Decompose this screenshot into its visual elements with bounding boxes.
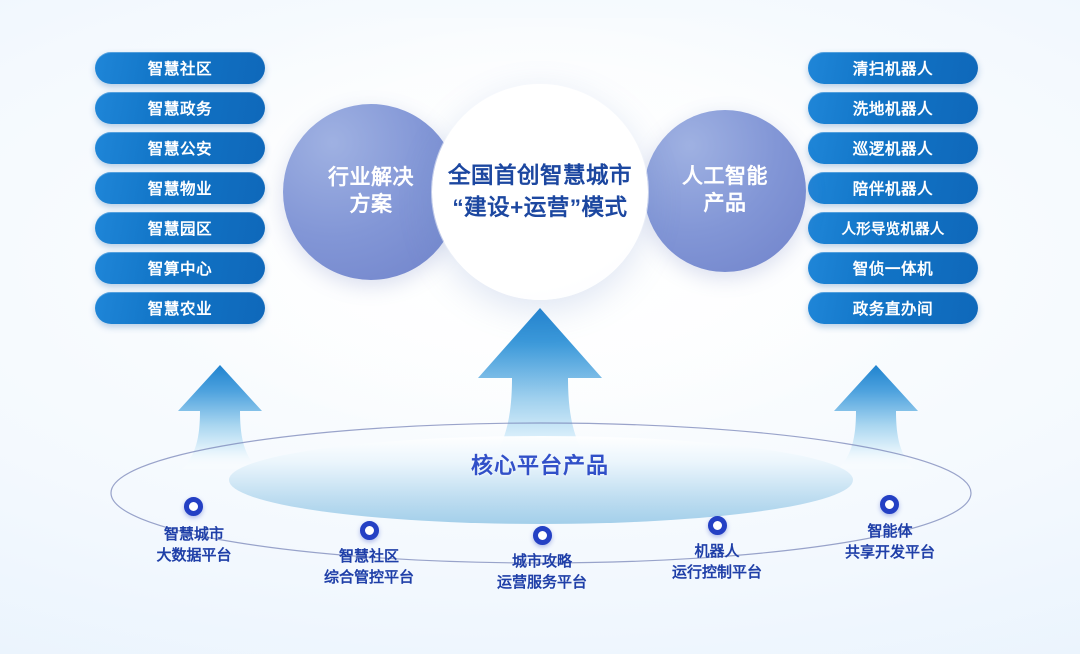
node-label-5-line1: 智能体 (814, 521, 966, 542)
node-dot-3[interactable] (533, 526, 552, 545)
node-label-4: 机器人 运行控制平台 (641, 541, 793, 583)
node-label-1-line2: 大数据平台 (118, 545, 270, 566)
pill-right-1[interactable]: 清扫机器人 (808, 52, 978, 84)
pill-right-5[interactable]: 人形导览机器人 (808, 212, 978, 244)
pill-right-2[interactable]: 洗地机器人 (808, 92, 978, 124)
pill-left-7[interactable]: 智慧农业 (95, 292, 265, 324)
circle-left-line1: 行业解决 (328, 165, 414, 192)
node-dot-2[interactable] (360, 521, 379, 540)
circle-center-line2: “建设+运营”模式 (452, 192, 627, 224)
pill-left-6[interactable]: 智算中心 (95, 252, 265, 284)
node-label-3: 城市攻略 运营服务平台 (466, 551, 618, 593)
pill-right-4[interactable]: 陪伴机器人 (808, 172, 978, 204)
node-label-2-line2: 综合管控平台 (293, 567, 445, 588)
right-product-list: 清扫机器人 洗地机器人 巡逻机器人 陪伴机器人 人形导览机器人 智侦一体机 政务… (808, 52, 978, 324)
node-label-4-line2: 运行控制平台 (641, 562, 793, 583)
node-label-2: 智慧社区 综合管控平台 (293, 546, 445, 588)
node-label-5-line2: 共享开发平台 (814, 542, 966, 563)
left-solution-list: 智慧社区 智慧政务 智慧公安 智慧物业 智慧园区 智算中心 智慧农业 (95, 52, 265, 324)
circle-right-line1: 人工智能 (682, 164, 768, 191)
node-label-4-line1: 机器人 (641, 541, 793, 562)
node-dot-5[interactable] (880, 495, 899, 514)
circle-center-line1: 全国首创智慧城市 (448, 160, 632, 192)
circle-ai-products[interactable]: 人工智能 产品 (644, 110, 806, 272)
node-label-1-line1: 智慧城市 (118, 524, 270, 545)
pill-right-3[interactable]: 巡逻机器人 (808, 132, 978, 164)
infographic-canvas: 智慧社区 智慧政务 智慧公安 智慧物业 智慧园区 智算中心 智慧农业 清扫机器人… (0, 0, 1080, 654)
node-label-5: 智能体 共享开发平台 (814, 521, 966, 563)
circle-left-line2: 方案 (350, 192, 393, 219)
pill-left-4[interactable]: 智慧物业 (95, 172, 265, 204)
pill-right-7[interactable]: 政务直办间 (808, 292, 978, 324)
pill-left-1[interactable]: 智慧社区 (95, 52, 265, 84)
circle-right-line2: 产品 (704, 191, 747, 218)
node-label-3-line2: 运营服务平台 (466, 572, 618, 593)
node-label-1: 智慧城市 大数据平台 (118, 524, 270, 566)
circle-core-model[interactable]: 全国首创智慧城市 “建设+运营”模式 (432, 84, 648, 300)
node-dot-1[interactable] (184, 497, 203, 516)
node-label-2-line1: 智慧社区 (293, 546, 445, 567)
pill-left-2[interactable]: 智慧政务 (95, 92, 265, 124)
pill-right-6[interactable]: 智侦一体机 (808, 252, 978, 284)
pill-left-3[interactable]: 智慧公安 (95, 132, 265, 164)
platform-core-label: 核心平台产品 (0, 448, 1080, 480)
pill-left-5[interactable]: 智慧园区 (95, 212, 265, 244)
node-dot-4[interactable] (708, 516, 727, 535)
node-label-3-line1: 城市攻略 (466, 551, 618, 572)
